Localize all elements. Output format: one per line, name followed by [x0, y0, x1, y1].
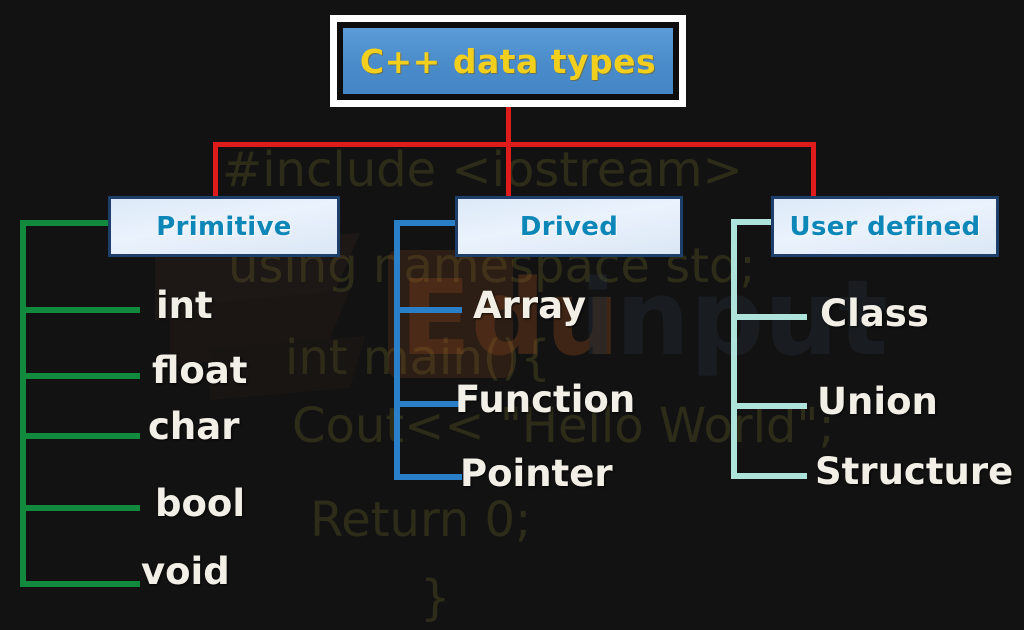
- root-connector-drop-primitive: [213, 142, 218, 197]
- root-node-label: C++ data types: [360, 42, 656, 81]
- drived-spine-top: [394, 220, 456, 226]
- branch-label-primitive: Primitive: [156, 212, 291, 242]
- drived-branch-function: [394, 401, 462, 407]
- leaf-label-int: int: [156, 284, 213, 327]
- root-node-fill: C++ data types: [343, 28, 673, 94]
- primitive-branch-int: [20, 307, 140, 313]
- userdefined-branch-class: [731, 314, 807, 320]
- leaf-label-float: float: [152, 349, 248, 392]
- branch-box-primitive: Primitive: [108, 196, 340, 257]
- primitive-spine-top: [20, 220, 112, 226]
- leaf-label-pointer: Pointer: [460, 452, 613, 495]
- leaf-label-bool: bool: [155, 482, 245, 525]
- branch-label-drived: Drived: [520, 212, 618, 242]
- watermark-code-line: #include <iostream>: [222, 142, 743, 198]
- diagram-canvas: #include <iostream> using namespace std;…: [0, 0, 1024, 630]
- leaf-label-void: void: [141, 550, 230, 593]
- root-node-inner-border: C++ data types: [337, 22, 679, 100]
- leaf-label-array: Array: [473, 284, 586, 327]
- leaf-label-char: char: [148, 405, 240, 448]
- primitive-spine: [20, 220, 26, 587]
- drived-branch-pointer: [394, 474, 462, 480]
- root-connector-drop-drived: [506, 142, 511, 197]
- primitive-branch-char: [20, 433, 140, 439]
- branch-box-drived: Drived: [455, 196, 683, 257]
- leaf-label-union: Union: [817, 380, 938, 423]
- userdefined-branch-structure: [731, 473, 807, 479]
- root-connector-drop-userdefined: [811, 142, 816, 197]
- leaf-label-class: Class: [820, 292, 929, 335]
- root-node-box: C++ data types: [330, 15, 686, 107]
- leaf-label-function: Function: [455, 378, 635, 421]
- root-connector-vertical: [506, 107, 511, 145]
- watermark-code-line: Return 0;: [310, 492, 531, 548]
- watermark-code-line: }: [420, 570, 451, 626]
- drived-spine: [394, 220, 400, 480]
- primitive-branch-float: [20, 373, 140, 379]
- leaf-label-structure: Structure: [815, 450, 1013, 493]
- primitive-branch-bool: [20, 505, 140, 511]
- userdefined-branch-union: [731, 403, 807, 409]
- primitive-branch-void: [20, 581, 140, 587]
- branch-box-userdefined: User defined: [771, 196, 999, 257]
- userdefined-spine: [731, 219, 737, 479]
- root-connector-bus: [213, 142, 816, 147]
- drived-branch-array: [394, 307, 462, 313]
- branch-label-userdefined: User defined: [790, 212, 981, 242]
